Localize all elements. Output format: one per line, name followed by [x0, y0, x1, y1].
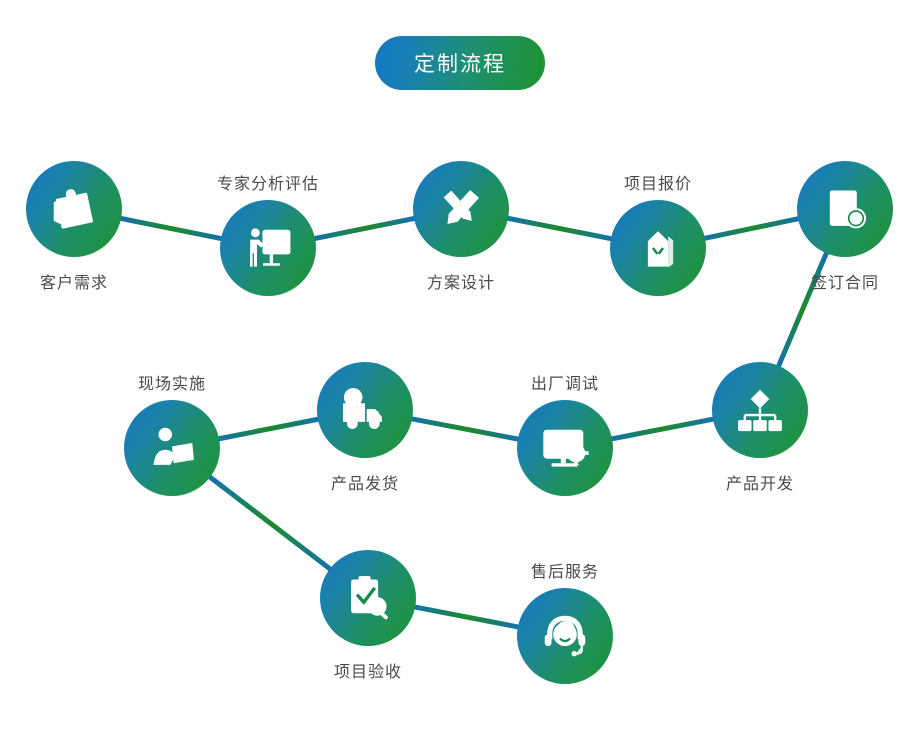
- clipboard-badge-icon: [47, 182, 101, 236]
- flow-node-label-n1: 客户需求: [40, 269, 108, 293]
- flow-node-label-n7: 出厂调试: [531, 370, 599, 394]
- flow-node-label-n2: 专家分析评估: [217, 170, 319, 194]
- monitor-gear-icon: [538, 421, 592, 475]
- presenter-chart-icon: [241, 221, 295, 275]
- page-title-text: 定制流程: [414, 48, 506, 78]
- flow-node-label-n4: 项目报价: [624, 170, 692, 194]
- flow-node-n7[interactable]: [517, 400, 613, 496]
- flow-node-n1[interactable]: [26, 161, 122, 257]
- flow-edge-n8-n9: [215, 419, 322, 440]
- flow-node-n9[interactable]: [124, 400, 220, 496]
- flow-node-n8[interactable]: [317, 362, 413, 458]
- flow-edge-n4-n5: [701, 218, 802, 239]
- flow-edge-n10-n11: [411, 606, 522, 627]
- flow-node-label-n3: 方案设计: [427, 269, 495, 293]
- flow-node-label-n9: 现场实施: [138, 370, 206, 394]
- page-title: 定制流程: [375, 36, 545, 90]
- flow-node-n11[interactable]: [517, 588, 613, 684]
- flow-node-label-n8: 产品发货: [331, 470, 399, 494]
- flow-node-label-n6: 产品开发: [726, 470, 794, 494]
- flow-node-label-n10: 项目验收: [334, 658, 402, 682]
- flow-edge-n9-n10: [207, 475, 333, 572]
- hierarchy-icon: [733, 383, 787, 437]
- flow-node-n4[interactable]: [610, 200, 706, 296]
- flow-edge-n1-n2: [117, 218, 225, 240]
- flow-node-n3[interactable]: [413, 161, 509, 257]
- price-tag-yen-icon: [631, 221, 685, 275]
- clipboard-check-search-icon: [341, 571, 395, 625]
- flow-node-n5[interactable]: [797, 161, 893, 257]
- flow-edge-n7-n8: [408, 418, 522, 440]
- flow-edge-n2-n3: [311, 218, 418, 240]
- delivery-truck-icon: [338, 383, 392, 437]
- ruler-pencil-icon: [434, 182, 488, 236]
- contract-seal-icon: [818, 182, 872, 236]
- flow-node-n6[interactable]: [712, 362, 808, 458]
- flow-node-label-n5: 签订合同: [811, 269, 879, 293]
- flow-edge-n3-n4: [504, 218, 615, 240]
- flow-node-n2[interactable]: [220, 200, 316, 296]
- onsite-worker-icon: [145, 421, 199, 475]
- flow-node-n10[interactable]: [320, 550, 416, 646]
- flow-node-label-n11: 售后服务: [531, 558, 599, 582]
- headset-support-icon: [538, 609, 592, 663]
- flow-edge-n5-n6: [777, 250, 828, 370]
- flow-edge-n6-n7: [608, 418, 717, 439]
